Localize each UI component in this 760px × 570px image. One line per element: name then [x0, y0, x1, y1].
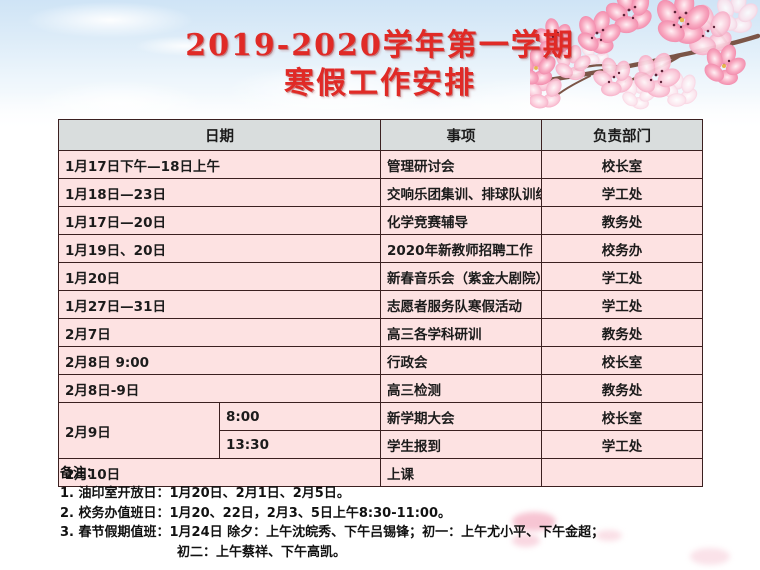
cell-date: 1月27日—31日 [59, 291, 381, 319]
cell-dept: 教务处 [542, 319, 703, 347]
cell-item: 交响乐团集训、排球队训练、机器人社FRC专项训练 [381, 179, 542, 207]
note-line-2: 2. 校务办值班日：1月20、22日，2月3、5日上午8:30-11:00。 [60, 504, 750, 524]
cell-date: 2月8日-9日 [59, 375, 381, 403]
note-line-3-continued: 初二：上午蔡祥、下午高凯。 [60, 543, 750, 563]
title-line-1: 2019-2020学年第一学期 [0, 30, 760, 62]
table-row: 2月8日 9:00 行政会 校长室 [59, 347, 703, 375]
cell-dept: 校长室 [542, 347, 703, 375]
table-row: 1月20日 新春音乐会（紫金大剧院） 学工处 [59, 263, 703, 291]
cell-date: 2月8日 9:00 [59, 347, 381, 375]
page-title: 2019-2020学年第一学期 寒假工作安排 [0, 30, 760, 100]
column-header-date: 日期 [59, 120, 381, 151]
table-row: 2月7日 高三各学科研训 教务处 [59, 319, 703, 347]
notes-heading: 备注： [60, 464, 750, 484]
cell-item: 化学竞赛辅导 [381, 207, 542, 235]
cell-date: 1月17日—20日 [59, 207, 381, 235]
table-body: 1月17日下午—18日上午 管理研讨会 校长室 1月18日—23日 交响乐团集训… [59, 151, 703, 487]
cell-item: 新学期大会 [381, 403, 542, 431]
cell-item: 高三检测 [381, 375, 542, 403]
cell-dept: 学工处 [542, 291, 703, 319]
cell-date: 1月19日、20日 [59, 235, 381, 263]
cell-item: 高三各学科研训 [381, 319, 542, 347]
cell-item: 2020年新教师招聘工作 [381, 235, 542, 263]
cell-date: 2月7日 [59, 319, 381, 347]
title-line-2: 寒假工作安排 [0, 68, 760, 100]
cell-time: 13:30 [220, 431, 381, 459]
cell-date: 1月17日下午—18日上午 [59, 151, 381, 179]
table-row-merged-first: 2月9日 8:00 新学期大会 校长室 [59, 403, 703, 431]
cell-item: 管理研讨会 [381, 151, 542, 179]
cell-item: 新春音乐会（紫金大剧院） [381, 263, 542, 291]
cell-item: 志愿者服务队寒假活动 [381, 291, 542, 319]
table-row: 1月19日、20日 2020年新教师招聘工作 校务办 [59, 235, 703, 263]
cell-time: 8:00 [220, 403, 381, 431]
schedule-table: 日期 事项 负责部门 1月17日下午—18日上午 管理研讨会 校长室 1月18日… [58, 119, 703, 487]
cell-item: 行政会 [381, 347, 542, 375]
cell-dept: 校务办 [542, 235, 703, 263]
cell-item: 学生报到 [381, 431, 542, 459]
table-row: 1月17日下午—18日上午 管理研讨会 校长室 [59, 151, 703, 179]
cell-date: 1月20日 [59, 263, 381, 291]
column-header-dept: 负责部门 [542, 120, 703, 151]
notes-section: 备注： 1. 油印室开放日：1月20日、2月1日、2月5日。 2. 校务办值班日… [60, 464, 750, 563]
cell-dept: 校长室 [542, 151, 703, 179]
cell-dept: 学工处 [542, 263, 703, 291]
column-header-item: 事项 [381, 120, 542, 151]
cell-dept: 教务处 [542, 375, 703, 403]
cell-dept: 教务处 [542, 207, 703, 235]
table-row: 1月17日—20日 化学竞赛辅导 教务处 [59, 207, 703, 235]
cell-dept: 学工处 [542, 431, 703, 459]
table-row: 1月27日—31日 志愿者服务队寒假活动 学工处 [59, 291, 703, 319]
cell-dept: 校长室 [542, 403, 703, 431]
table-row: 1月18日—23日 交响乐团集训、排球队训练、机器人社FRC专项训练 学工处 [59, 179, 703, 207]
note-line-1: 1. 油印室开放日：1月20日、2月1日、2月5日。 [60, 484, 750, 504]
note-line-3: 3. 春节假期值班：1月24日 除夕：上午沈皖秀、下午吕锡锋；初一：上午尤小平、… [60, 523, 750, 543]
table-header-row: 日期 事项 负责部门 [59, 120, 703, 151]
cell-dept: 学工处 [542, 179, 703, 207]
table-row: 2月8日-9日 高三检测 教务处 [59, 375, 703, 403]
cell-date-merged: 2月9日 [59, 403, 220, 459]
cell-date: 1月18日—23日 [59, 179, 381, 207]
